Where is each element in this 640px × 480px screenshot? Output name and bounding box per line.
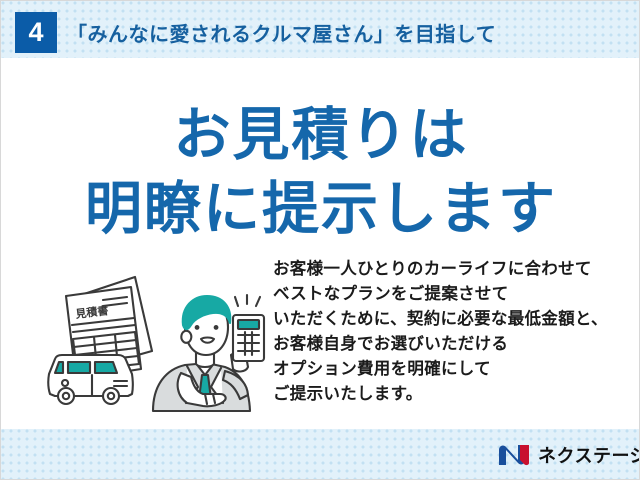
- copy-line: いただくために、契約に必要な最低金額と、: [273, 307, 638, 332]
- promo-slide: 4 「みんなに愛されるクルマ屋さん」を目指して お見積りは 明瞭に提示します 見…: [0, 0, 640, 480]
- brand-logo: ネクステージ: [498, 442, 640, 468]
- copy-line: ベストなプランをご提案させて: [273, 282, 638, 307]
- body-copy: お客様一人ひとりのカーライフに合わせて ベストなプランをご提案させて いただくた…: [273, 257, 638, 407]
- copy-line: お客様一人ひとりのカーライフに合わせて: [273, 257, 638, 282]
- page-title: 「みんなに愛されるクルマ屋さん」を目指して: [67, 18, 496, 47]
- brand-name: ネクステージ: [538, 442, 640, 468]
- nextage-n-mark: [498, 444, 532, 466]
- headline-line-1: お見積りは: [1, 89, 640, 171]
- copy-line: お客様自身でお選びいただける: [273, 332, 638, 357]
- copy-line: オプション費用を明確にして: [273, 357, 638, 382]
- headline-line-2: 明瞭に提示します: [1, 163, 640, 245]
- illustration: 見積書: [35, 263, 270, 421]
- copy-line: ご提示いたします。: [273, 382, 638, 407]
- salesperson-illustration: 見積書: [35, 263, 270, 421]
- step-number-badge: 4: [15, 12, 57, 53]
